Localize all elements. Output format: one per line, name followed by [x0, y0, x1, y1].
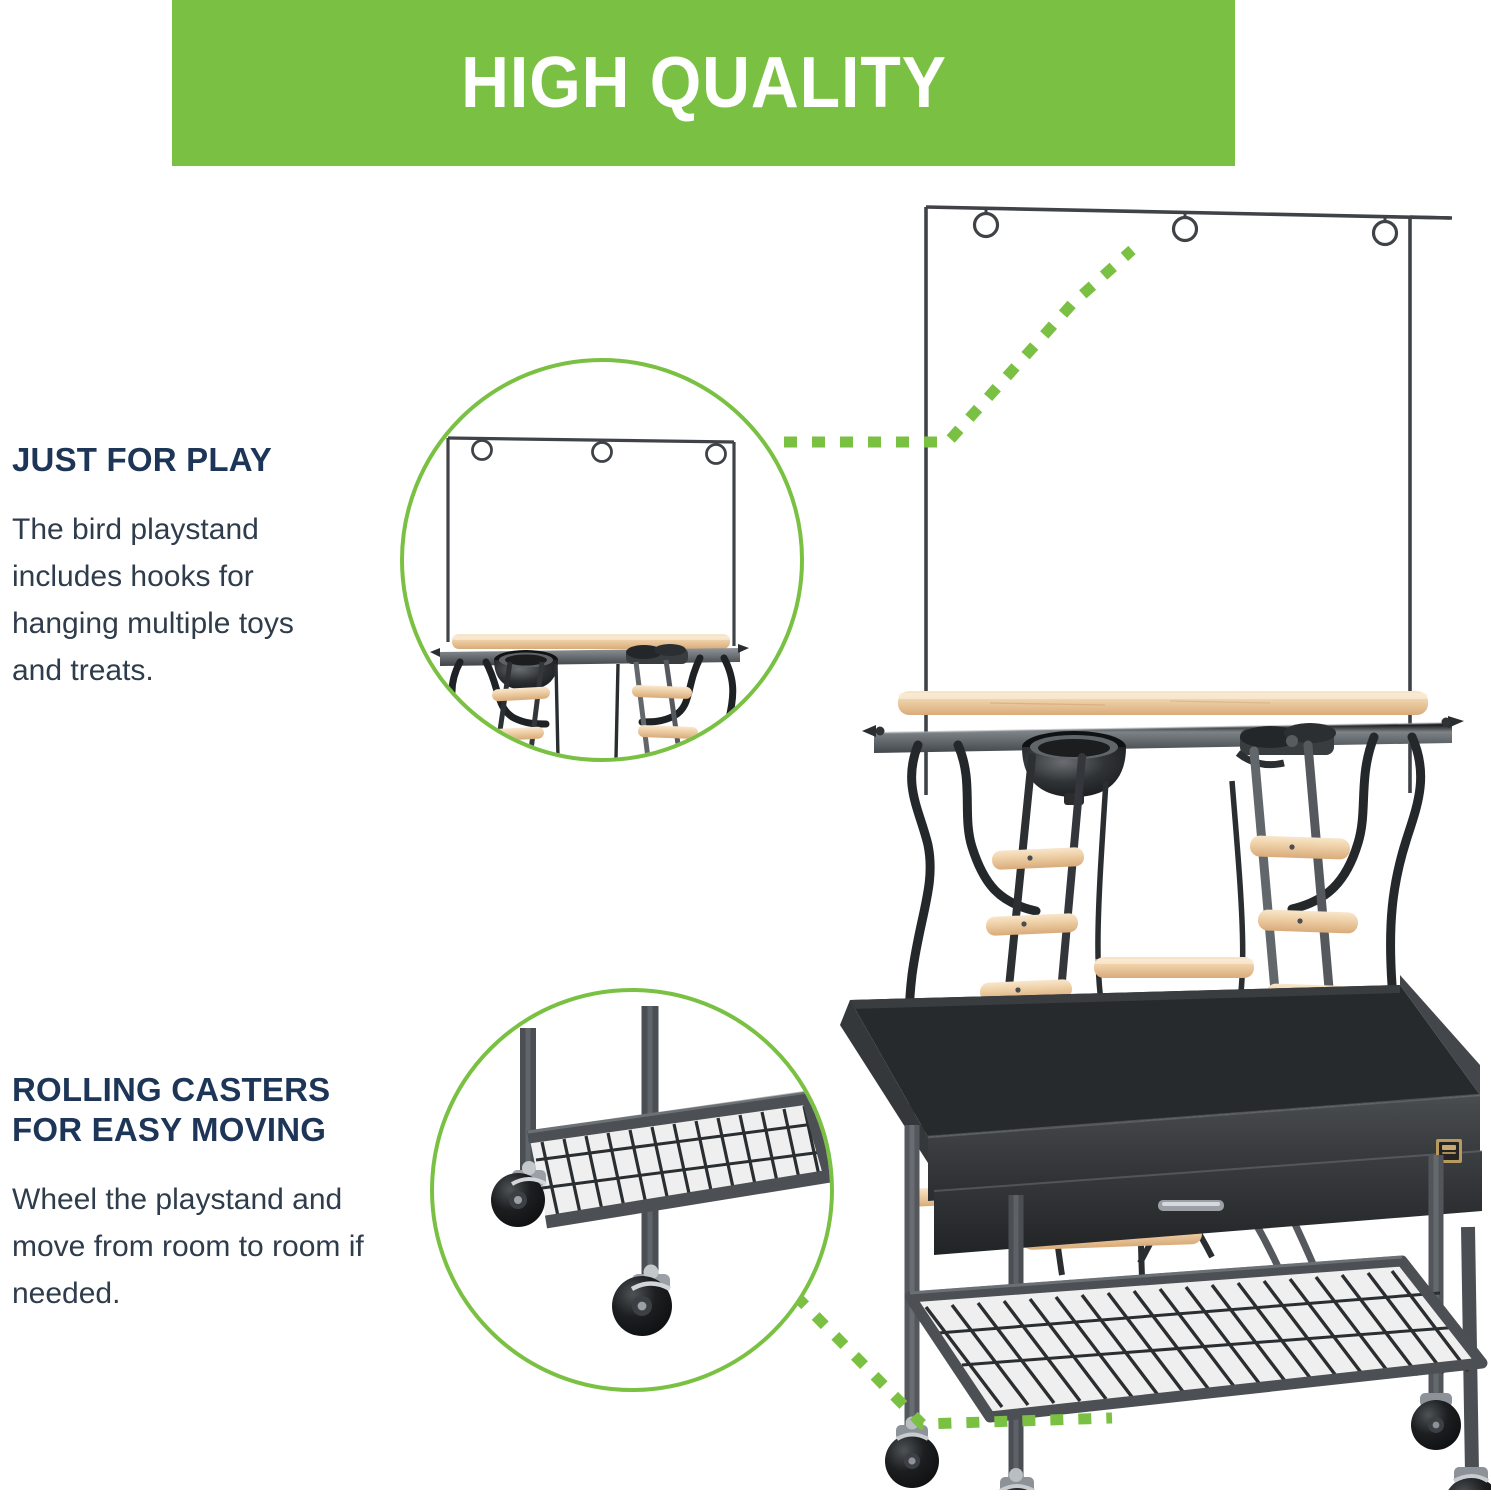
banner-title: HIGH QUALITY: [461, 42, 947, 124]
callout-hook-ring-1: [473, 438, 492, 460]
high-quality-banner: HIGH QUALITY: [172, 0, 1235, 166]
hook-ring-1: [975, 210, 998, 237]
product-feature-graphic: HIGH QUALITY: [0, 0, 1491, 1500]
product-illustration: [840, 185, 1491, 1490]
caster-front-left: [988, 1468, 1046, 1490]
caster-front-right: [1444, 1467, 1491, 1490]
callout-hooks-art: [404, 362, 800, 758]
callout-caster-front: [612, 1265, 672, 1337]
wire-bottom-shelf: [910, 1257, 1482, 1417]
hook-ring-2: [1174, 214, 1197, 241]
callout-top-frame: [448, 438, 734, 646]
feature-heading-casters: ROLLING CASTERS FOR EASY MOVING: [12, 1070, 407, 1150]
callout-hanging-hooks: [400, 358, 804, 762]
feature-body-casters: Wheel the playstand and move from room t…: [12, 1176, 407, 1317]
callout-feeder-cup: [494, 650, 558, 690]
callout-ladder-right: [632, 660, 698, 758]
callout-wire-shelf: [528, 1092, 830, 1222]
feature-block-just-for-play: JUST FOR PLAY The bird playstand include…: [12, 440, 342, 694]
bottom-tray: [840, 975, 1482, 1255]
callout-hook-ring-3: [707, 442, 726, 464]
feeder-cup-left: [1022, 731, 1126, 805]
callout-caster-back: [491, 1161, 546, 1227]
hook-ring-3: [1374, 218, 1397, 245]
top-wood-perch: [898, 691, 1428, 715]
caster-back-left: [885, 1417, 939, 1489]
callout-casters-art: [434, 992, 830, 1388]
callout-arches: [452, 658, 733, 758]
feature-block-rolling-casters: ROLLING CASTERS FOR EASY MOVING Wheel th…: [12, 1070, 407, 1317]
feature-heading-play: JUST FOR PLAY: [12, 440, 342, 480]
callout-rolling-casters: [430, 988, 834, 1392]
drawer-handle[interactable]: [1158, 1200, 1224, 1211]
callout-cup-clamp: [626, 644, 688, 664]
feature-body-play: The bird playstand includes hooks for ha…: [12, 506, 342, 694]
callout-hook-ring-2: [593, 440, 612, 462]
callout-wood-perch: [452, 634, 730, 649]
caster-back-right: [1411, 1393, 1461, 1450]
